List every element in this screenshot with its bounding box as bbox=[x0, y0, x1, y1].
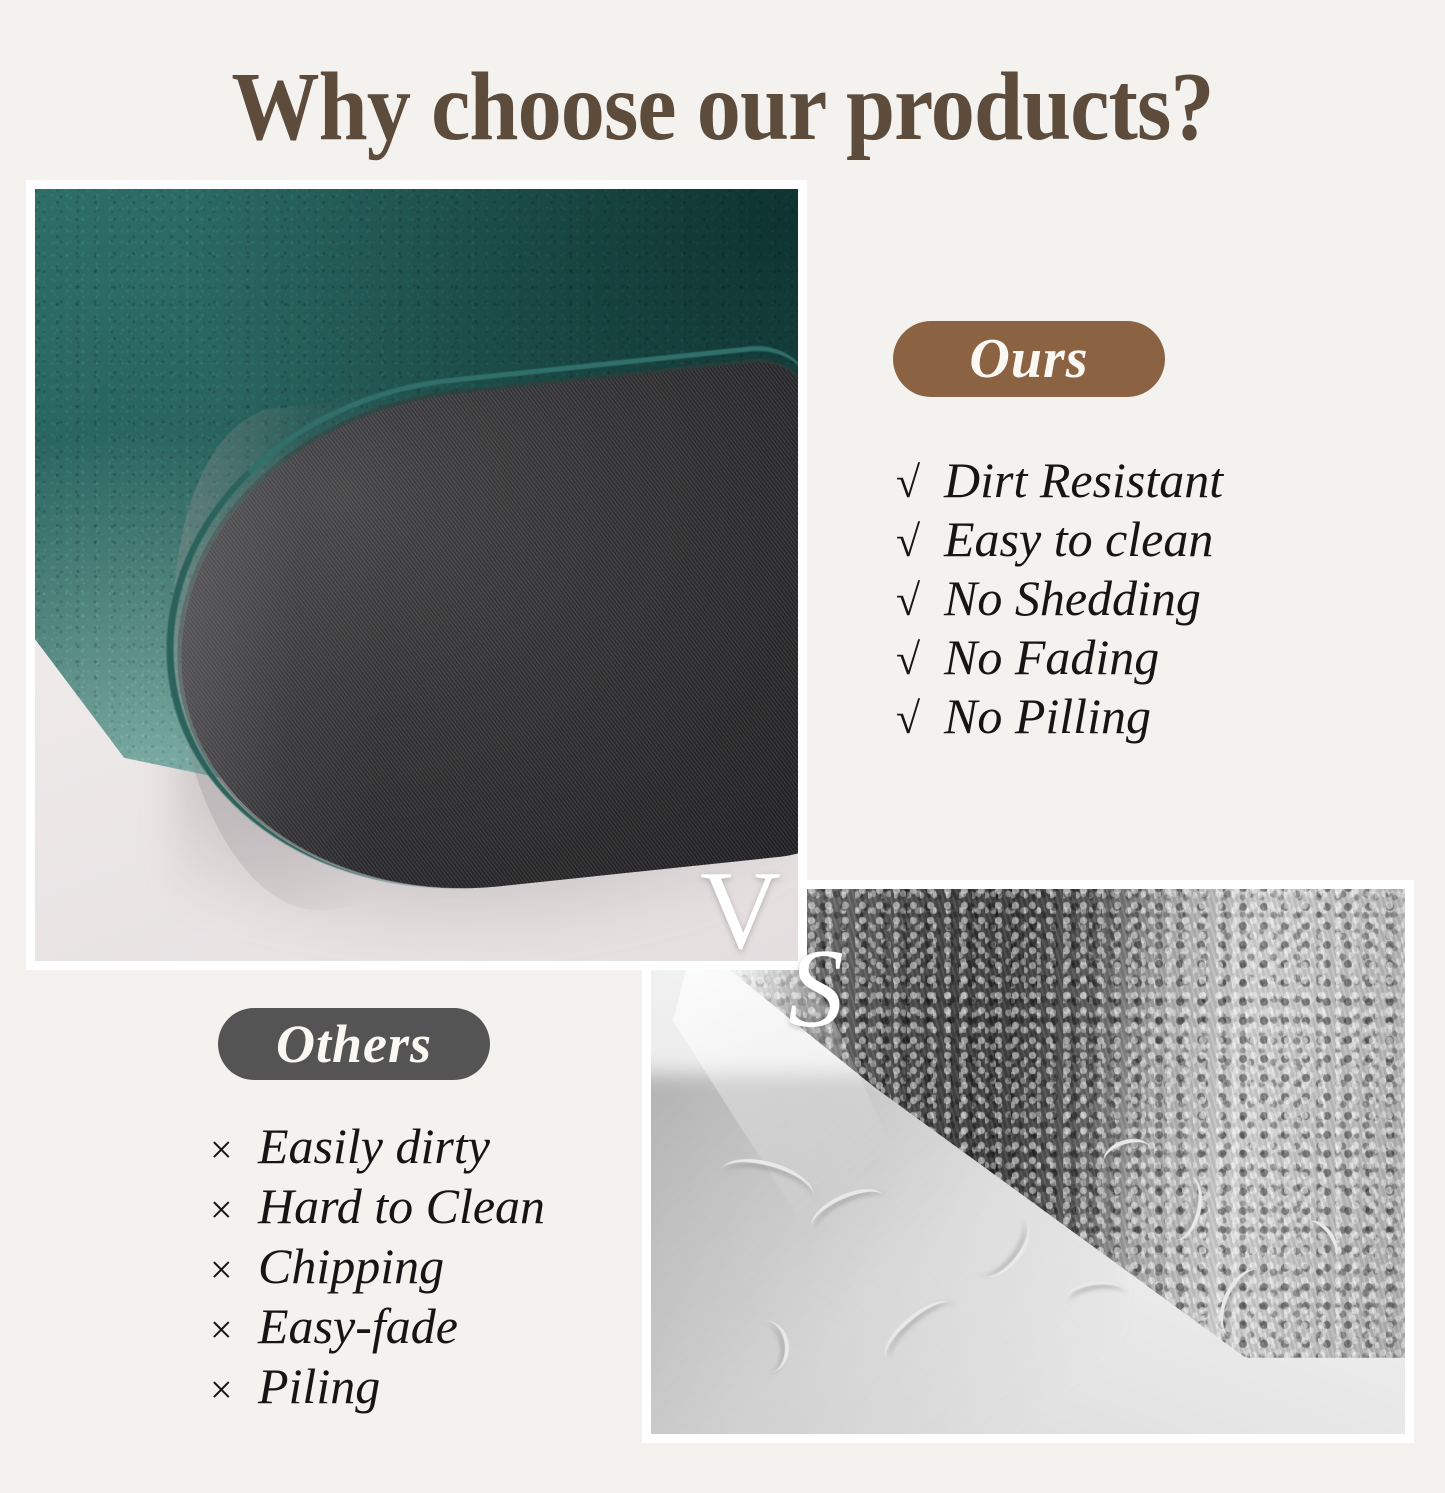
others-feature-label: Chipping bbox=[258, 1238, 444, 1294]
page-title: Why choose our products? bbox=[72, 56, 1373, 159]
cross-icon: × bbox=[210, 1302, 258, 1358]
others-feature-label: Easy-fade bbox=[258, 1298, 458, 1354]
ours-photo-panel bbox=[26, 180, 807, 970]
others-badge: Others bbox=[218, 1008, 490, 1080]
green-mat-scene bbox=[35, 189, 798, 961]
vs-letter-s: S bbox=[788, 933, 844, 1045]
ours-feature-item: √ Dirt Resistant bbox=[896, 452, 1223, 511]
others-feature-item: × Piling bbox=[210, 1358, 545, 1418]
check-icon: √ bbox=[896, 455, 944, 511]
others-feature-item: × Easily dirty bbox=[210, 1118, 545, 1178]
others-feature-label: Hard to Clean bbox=[258, 1178, 545, 1234]
cross-icon: × bbox=[210, 1122, 258, 1178]
ours-feature-item: √ No Fading bbox=[896, 629, 1223, 688]
ours-feature-label: Dirt Resistant bbox=[944, 452, 1223, 508]
ours-feature-label: Easy to clean bbox=[944, 511, 1213, 567]
check-icon: √ bbox=[896, 691, 944, 747]
check-icon: √ bbox=[896, 573, 944, 629]
vs-letter-v: V bbox=[700, 855, 781, 967]
infographic-root: Why choose our products? bbox=[0, 0, 1445, 1493]
ours-feature-label: No Pilling bbox=[944, 688, 1151, 744]
others-feature-item: × Easy-fade bbox=[210, 1298, 545, 1358]
check-icon: √ bbox=[896, 632, 944, 688]
cross-icon: × bbox=[210, 1362, 258, 1418]
ours-feature-item: √ No Pilling bbox=[896, 688, 1223, 747]
check-icon: √ bbox=[896, 514, 944, 570]
ours-badge: Ours bbox=[893, 321, 1165, 397]
cross-icon: × bbox=[210, 1242, 258, 1298]
ours-photo bbox=[35, 189, 798, 961]
cross-icon: × bbox=[210, 1182, 258, 1238]
ours-feature-item: √ No Shedding bbox=[896, 570, 1223, 629]
others-feature-label: Easily dirty bbox=[258, 1118, 490, 1174]
others-feature-label: Piling bbox=[258, 1358, 380, 1414]
others-feature-item: × Chipping bbox=[210, 1238, 545, 1298]
ours-feature-label: No Shedding bbox=[944, 570, 1201, 626]
ours-feature-label: No Fading bbox=[944, 629, 1159, 685]
others-feature-list: × Easily dirty × Hard to Clean × Chippin… bbox=[210, 1118, 545, 1418]
ours-feature-list: √ Dirt Resistant √ Easy to clean √ No Sh… bbox=[896, 452, 1223, 747]
ours-feature-item: √ Easy to clean bbox=[896, 511, 1223, 570]
others-feature-item: × Hard to Clean bbox=[210, 1178, 545, 1238]
